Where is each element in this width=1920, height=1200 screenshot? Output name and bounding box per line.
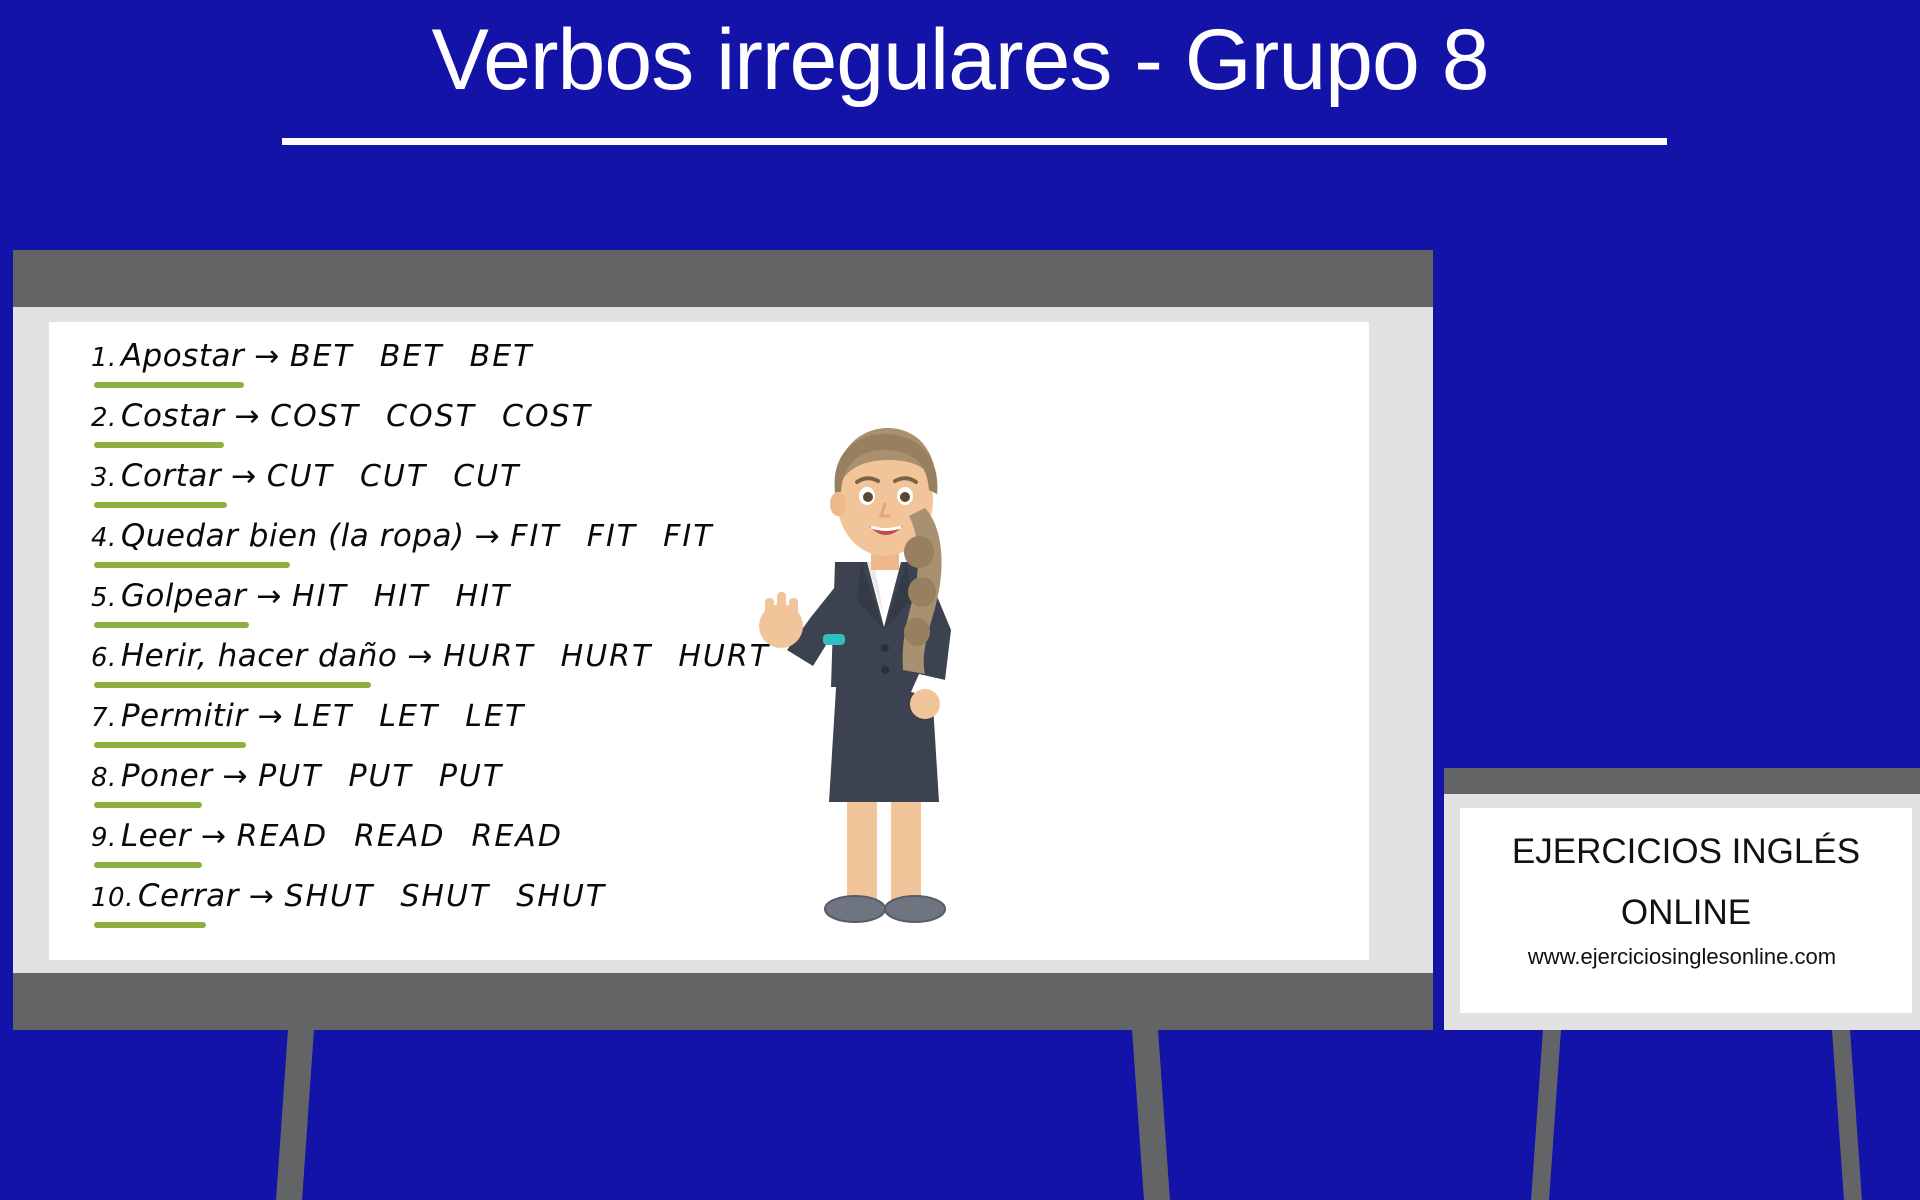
verb-number: 9. (91, 823, 121, 853)
verb-list: 1.Apostar→BETBETBET2.Costar→COSTCOSTCOST… (91, 332, 1351, 932)
verb-row: 8.Poner→PUTPUTPUT (91, 752, 1351, 812)
logo-line-2: ONLINE (1460, 893, 1912, 933)
logo-board: EJERCICIOS INGLÉS ONLINE www.ejerciciosi… (1444, 768, 1920, 1030)
page-title: Verbos irregulares - Grupo 8 (0, 10, 1920, 110)
whiteboard: 1.Apostar→BETBETBET2.Costar→COSTCOSTCOST… (13, 250, 1433, 1030)
verb-english-form: CUT (360, 459, 453, 494)
arrow-icon: → (221, 459, 267, 494)
verb-text: 3.Cortar→CUTCUTCUT (91, 458, 546, 494)
whiteboard-surface: 1.Apostar→BETBETBET2.Costar→COSTCOSTCOST… (49, 322, 1369, 960)
verb-underline (94, 382, 244, 388)
verb-number: 1. (91, 343, 121, 373)
logo-easel-leg-left (1531, 1030, 1561, 1200)
verb-number: 10. (91, 883, 138, 913)
verb-spanish: Cortar (121, 458, 221, 494)
verb-spanish: Quedar bien (la ropa) (121, 518, 465, 554)
verb-number: 6. (91, 643, 121, 673)
verb-underline (94, 502, 227, 508)
verb-english-form: PUT (439, 759, 529, 794)
verb-english-form: LET (293, 699, 379, 734)
verb-english-form: FIT (510, 519, 586, 554)
verb-number: 3. (91, 463, 121, 493)
verb-spanish: Herir, hacer daño (121, 638, 398, 674)
verb-english-form: HIT (292, 579, 374, 614)
verb-number: 4. (91, 523, 121, 553)
verb-english-form: HURT (561, 639, 679, 674)
verb-english-form: SHUT (516, 879, 632, 914)
verb-text: 7.Permitir→LETLETLET (91, 698, 551, 734)
arrow-icon: → (248, 699, 294, 734)
arrow-icon: → (239, 879, 285, 914)
arrow-icon: → (465, 519, 511, 554)
verb-english-form: READ (472, 819, 589, 854)
verb-text: 1.Apostar→BETBETBET (91, 338, 559, 374)
verb-text: 9.Leer→READREADREAD (91, 818, 589, 854)
verb-english-form: COST (270, 399, 386, 434)
whiteboard-frame-top (13, 250, 1433, 307)
verb-underline (94, 742, 246, 748)
verb-underline (94, 622, 249, 628)
verb-text: 10.Cerrar→SHUTSHUTSHUT (91, 878, 632, 914)
logo-url: www.ejerciciosinglesonline.com (1444, 944, 1920, 970)
verb-spanish: Poner (121, 758, 213, 794)
verb-english-form: PUT (348, 759, 438, 794)
verb-english-form: LET (465, 699, 551, 734)
verb-underline (94, 682, 371, 688)
logo-board-surface: EJERCICIOS INGLÉS ONLINE (1460, 808, 1912, 1013)
arrow-icon: → (224, 399, 270, 434)
verb-english-form: COST (386, 399, 502, 434)
verb-english-form: HURT (443, 639, 561, 674)
verb-row: 6.Herir, hacer daño→HURTHURTHURT (91, 632, 1351, 692)
verb-number: 7. (91, 703, 121, 733)
verb-row: 5.Golpear→HITHITHIT (91, 572, 1351, 632)
arrow-icon: → (397, 639, 443, 674)
verb-english-form: HIT (374, 579, 456, 614)
verb-text: 5.Golpear→HITHITHIT (91, 578, 537, 614)
verb-text: 8.Poner→PUTPUTPUT (91, 758, 529, 794)
verb-text: 4.Quedar bien (la ropa)→FITFITFIT (91, 518, 740, 554)
verb-english-form: LET (379, 699, 465, 734)
verb-english-form: SHUT (284, 879, 400, 914)
verb-english-form: FIT (587, 519, 663, 554)
verb-row: 4.Quedar bien (la ropa)→FITFITFIT (91, 512, 1351, 572)
verb-english-form: PUT (258, 759, 348, 794)
arrow-icon: → (191, 819, 237, 854)
verb-english-form: SHUT (400, 879, 516, 914)
verb-english-form: FIT (663, 519, 739, 554)
title-underline (282, 138, 1667, 145)
verb-text: 6.Herir, hacer daño→HURTHURTHURT (91, 638, 796, 674)
verb-underline (94, 922, 206, 928)
whiteboard-frame-bottom (13, 973, 1433, 1030)
verb-spanish: Golpear (121, 578, 247, 614)
verb-text: 2.Costar→COSTCOSTCOST (91, 398, 618, 434)
verb-row: 3.Cortar→CUTCUTCUT (91, 452, 1351, 512)
verb-english-form: BET (470, 339, 560, 374)
verb-row: 9.Leer→READREADREAD (91, 812, 1351, 872)
verb-english-form: CUT (453, 459, 546, 494)
logo-board-body: EJERCICIOS INGLÉS ONLINE www.ejerciciosi… (1444, 794, 1920, 1030)
verb-row: 10.Cerrar→SHUTSHUTSHUT (91, 872, 1351, 932)
arrow-icon: → (212, 759, 258, 794)
arrow-icon: → (244, 339, 290, 374)
logo-line-1: EJERCICIOS INGLÉS (1460, 832, 1912, 872)
whiteboard-body: 1.Apostar→BETBETBET2.Costar→COSTCOSTCOST… (13, 307, 1433, 973)
easel-leg-right (1132, 1030, 1170, 1200)
verb-english-form: BET (380, 339, 470, 374)
verb-english-form: COST (502, 399, 618, 434)
verb-english-form: CUT (267, 459, 360, 494)
verb-spanish: Cerrar (138, 878, 239, 914)
verb-number: 2. (91, 403, 121, 433)
arrow-icon: → (246, 579, 292, 614)
verb-english-form: READ (354, 819, 471, 854)
verb-english-form: BET (290, 339, 380, 374)
verb-row: 7.Permitir→LETLETLET (91, 692, 1351, 752)
verb-number: 5. (91, 583, 121, 613)
verb-row: 1.Apostar→BETBETBET (91, 332, 1351, 392)
verb-row: 2.Costar→COSTCOSTCOST (91, 392, 1351, 452)
verb-underline (94, 862, 202, 868)
verb-english-form: READ (237, 819, 354, 854)
teacher-illustration (739, 412, 1029, 952)
verb-spanish: Apostar (121, 338, 244, 374)
verb-spanish: Leer (121, 818, 191, 854)
verb-underline (94, 802, 202, 808)
verb-underline (94, 442, 224, 448)
logo-easel-leg-right (1832, 1030, 1862, 1200)
easel-leg-left (276, 1030, 314, 1200)
verb-spanish: Costar (121, 398, 225, 434)
verb-spanish: Permitir (121, 698, 248, 734)
verb-english-form: HIT (456, 579, 538, 614)
verb-underline (94, 562, 290, 568)
logo-board-frame-top (1444, 768, 1920, 794)
verb-number: 8. (91, 763, 121, 793)
title-area: Verbos irregulares - Grupo 8 (0, 0, 1920, 170)
